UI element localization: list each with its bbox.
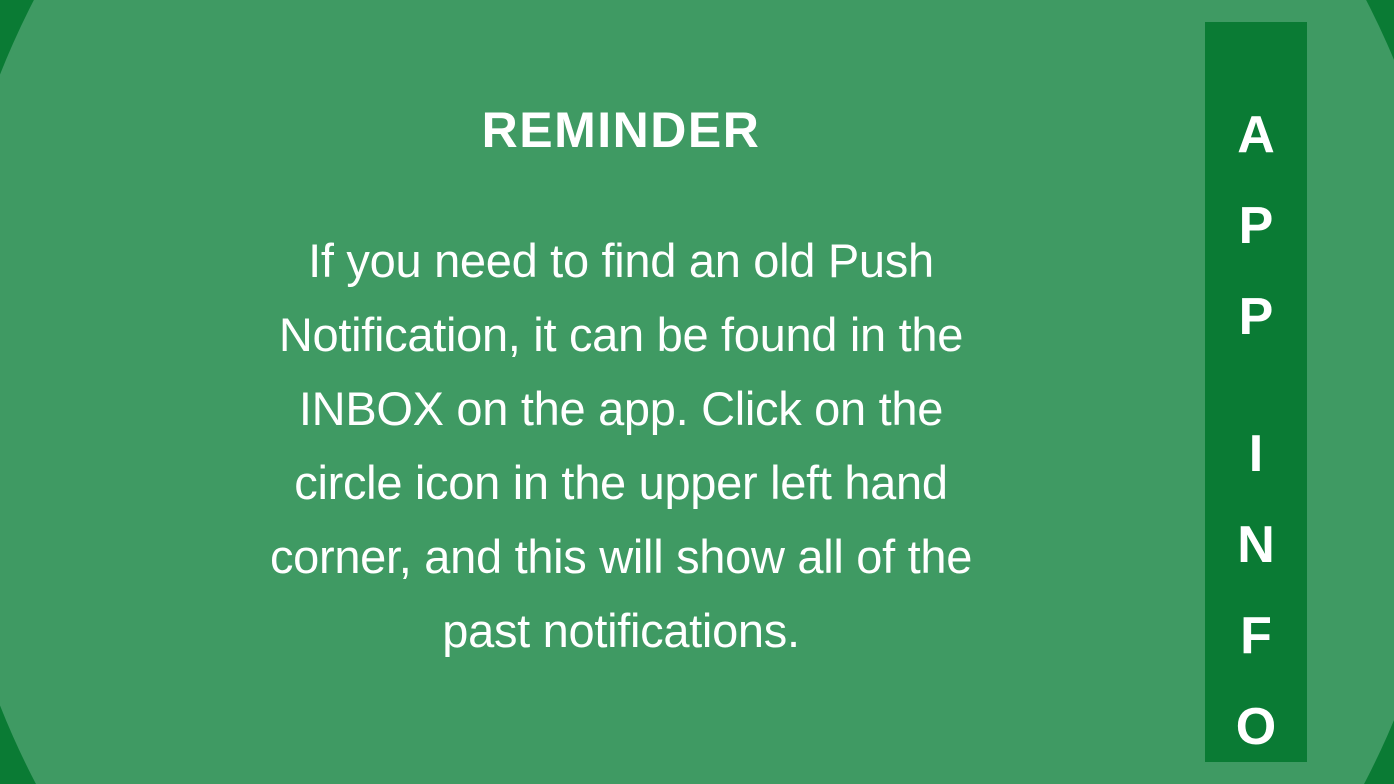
side-banner-letter: P: [1239, 272, 1274, 363]
side-banner-app-info: A P P I N F O: [1205, 22, 1307, 762]
slide-canvas: REMINDER If you need to find an old Push…: [0, 0, 1394, 784]
side-banner-letter: N: [1237, 500, 1275, 591]
body-line: Notification, it can be found in the: [171, 298, 1071, 372]
body-line: INBOX on the app. Click on the: [171, 372, 1071, 446]
side-banner-vertical-label: A P P I N F O: [1236, 90, 1276, 773]
side-banner-letter: O: [1236, 682, 1276, 773]
side-banner-letter: A: [1237, 90, 1275, 181]
side-banner-letter: F: [1240, 591, 1272, 682]
body-line: circle icon in the upper left hand: [171, 446, 1071, 520]
slide-body-text: If you need to find an old Push Notifica…: [171, 224, 1071, 668]
side-banner-letter: P: [1239, 181, 1274, 272]
body-line: If you need to find an old Push: [171, 224, 1071, 298]
side-banner-letter: I: [1249, 409, 1263, 500]
page-title: REMINDER: [150, 99, 1092, 161]
body-line: corner, and this will show all of the: [171, 520, 1071, 594]
slide-content-area: REMINDER If you need to find an old Push…: [150, 0, 1092, 784]
side-banner-letter-space: [1249, 363, 1263, 409]
body-line: past notifications.: [171, 594, 1071, 668]
